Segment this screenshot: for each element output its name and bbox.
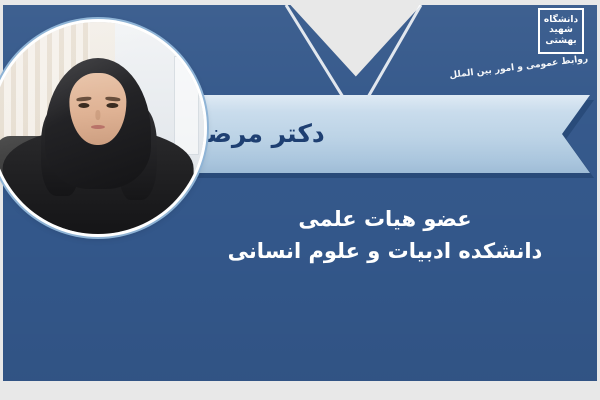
logo-line-1: دانشگاه	[544, 16, 578, 25]
role-line: عضو هیات علمی	[190, 205, 580, 233]
university-logo-mark-icon: دانشگاه شهید بهشتی	[538, 8, 584, 54]
faculty-line: دانشکده ادبیات و علوم انسانی	[190, 237, 580, 265]
photo-eye-right	[107, 103, 118, 108]
public-relations-script: روابط عمومی و امور بین الملل	[484, 54, 588, 77]
photo-eyebrow-right	[105, 96, 120, 101]
subtitle-block: عضو هیات علمی دانشکده ادبیات و علوم انسا…	[190, 205, 580, 266]
profile-banner: دکتر مرضیه ابراهیمی عضو هیات علمی دانشکد…	[0, 0, 600, 400]
logo-line-2: شهید	[549, 26, 573, 35]
portrait-avatar	[0, 22, 204, 234]
logo-line-3: بهشتی	[545, 37, 576, 46]
portrait-photo	[0, 22, 204, 234]
photo-nose	[96, 110, 101, 120]
photo-eye-left	[78, 103, 89, 108]
photo-wall-panel	[174, 56, 199, 156]
university-logo: دانشگاه شهید بهشتی روابط عمومی و امور بی…	[482, 6, 590, 92]
photo-lips	[91, 125, 106, 129]
photo-eyebrow-left	[76, 96, 91, 101]
